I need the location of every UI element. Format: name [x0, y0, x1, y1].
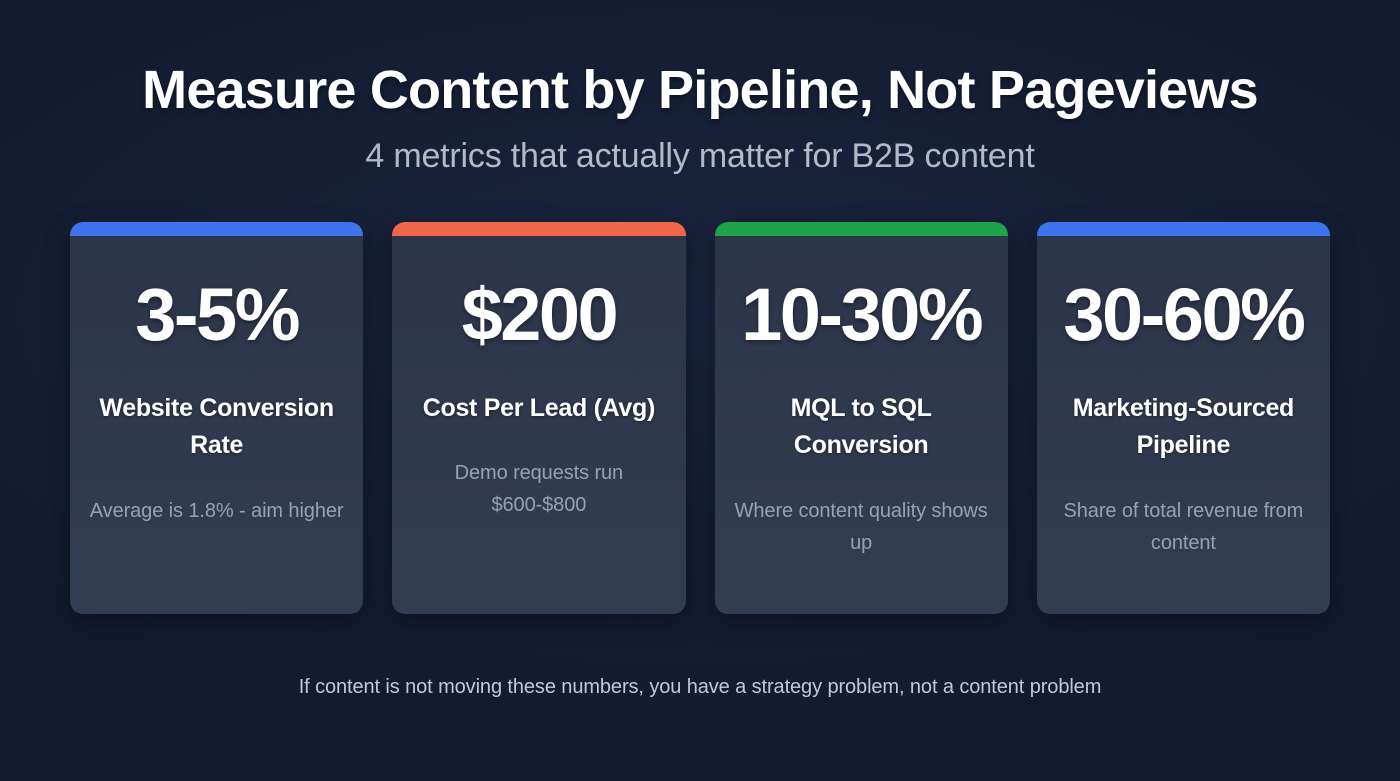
metric-card: $200 Cost Per Lead (Avg) Demo requests r… — [392, 222, 685, 614]
metric-value: 10-30% — [741, 278, 981, 352]
metric-card: 3-5% Website Conversion Rate Average is … — [70, 222, 363, 614]
metric-label: Marketing-Sourced Pipeline — [1053, 390, 1314, 465]
metric-description: Share of total revenue from content — [1053, 495, 1314, 559]
page-title: Measure Content by Pipeline, Not Pagevie… — [70, 62, 1330, 119]
metric-value: 3-5% — [135, 278, 298, 352]
metric-label: Cost Per Lead (Avg) — [423, 390, 655, 428]
card-accent-bar — [70, 222, 363, 236]
slide-header: Measure Content by Pipeline, Not Pagevie… — [70, 62, 1330, 176]
metric-value: 30-60% — [1063, 278, 1303, 352]
metric-description: Where content quality shows up — [731, 495, 992, 559]
metric-description: Demo requests run $600-$800 — [408, 457, 669, 521]
card-accent-bar — [1037, 222, 1330, 236]
slide-footer: If content is not moving these numbers, … — [70, 676, 1330, 751]
page-subtitle: 4 metrics that actually matter for B2B c… — [70, 137, 1330, 176]
metric-card: 30-60% Marketing-Sourced Pipeline Share … — [1037, 222, 1330, 614]
card-accent-bar — [715, 222, 1008, 236]
metric-label: Website Conversion Rate — [86, 390, 347, 465]
card-accent-bar — [392, 222, 685, 236]
metric-card: 10-30% MQL to SQL Conversion Where conte… — [715, 222, 1008, 614]
footer-note: If content is not moving these numbers, … — [70, 676, 1330, 699]
metric-card-grid: 3-5% Website Conversion Rate Average is … — [70, 222, 1330, 614]
slide-root: Measure Content by Pipeline, Not Pagevie… — [0, 0, 1400, 781]
metric-value: $200 — [462, 278, 617, 352]
metric-description: Average is 1.8% - aim higher — [90, 495, 344, 527]
metric-label: MQL to SQL Conversion — [731, 390, 992, 465]
